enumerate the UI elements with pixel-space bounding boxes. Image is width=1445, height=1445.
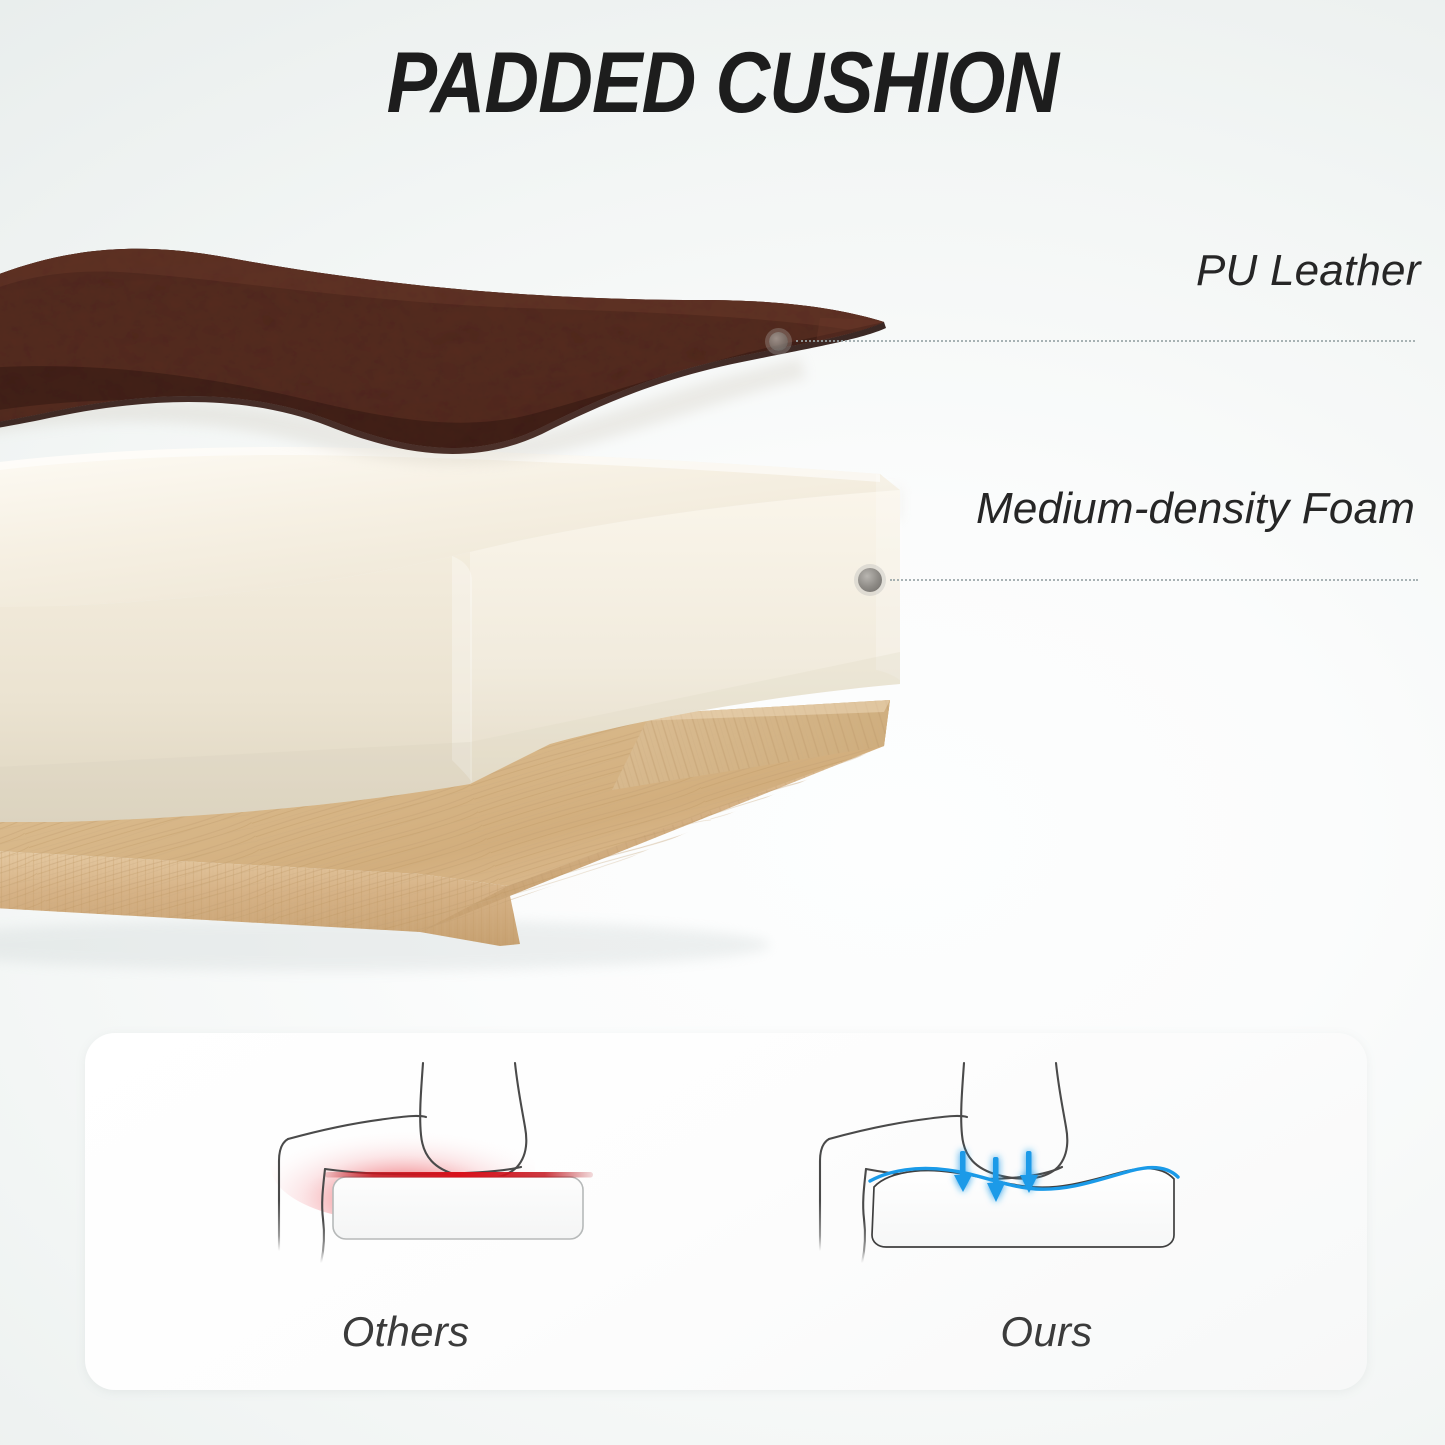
comparison-label-ours: Ours (726, 1308, 1367, 1356)
body-knee-front (820, 1139, 829, 1251)
others-diagram (85, 1039, 726, 1311)
comparison-label-others: Others (85, 1308, 726, 1356)
comparison-panel: Others (85, 1033, 1367, 1390)
exploded-layer-stack: PU Leather Medium-density Foam (0, 0, 1445, 1010)
body-thigh-top (829, 1116, 967, 1139)
callout-dot-pu-leather (769, 332, 788, 351)
callout-leader-pu-leather (796, 340, 1415, 344)
callout-label-pu-leather: PU Leather (1196, 246, 1421, 296)
comparison-ours: Ours (726, 1033, 1367, 1390)
ours-diagram (726, 1039, 1367, 1311)
comparison-others: Others (85, 1033, 726, 1390)
infographic-canvas: PADDED CUSHION (0, 0, 1445, 1445)
flat-hard-seat (333, 1177, 583, 1239)
callout-label-medium-density-foam: Medium-density Foam (976, 484, 1415, 534)
callout-dot-medium-density-foam (858, 568, 882, 592)
body-shin-back (862, 1169, 866, 1263)
callout-leader-medium-density-foam (890, 579, 1418, 583)
body-torso-outline (961, 1063, 1067, 1179)
pressure-contact-line (325, 1172, 593, 1178)
